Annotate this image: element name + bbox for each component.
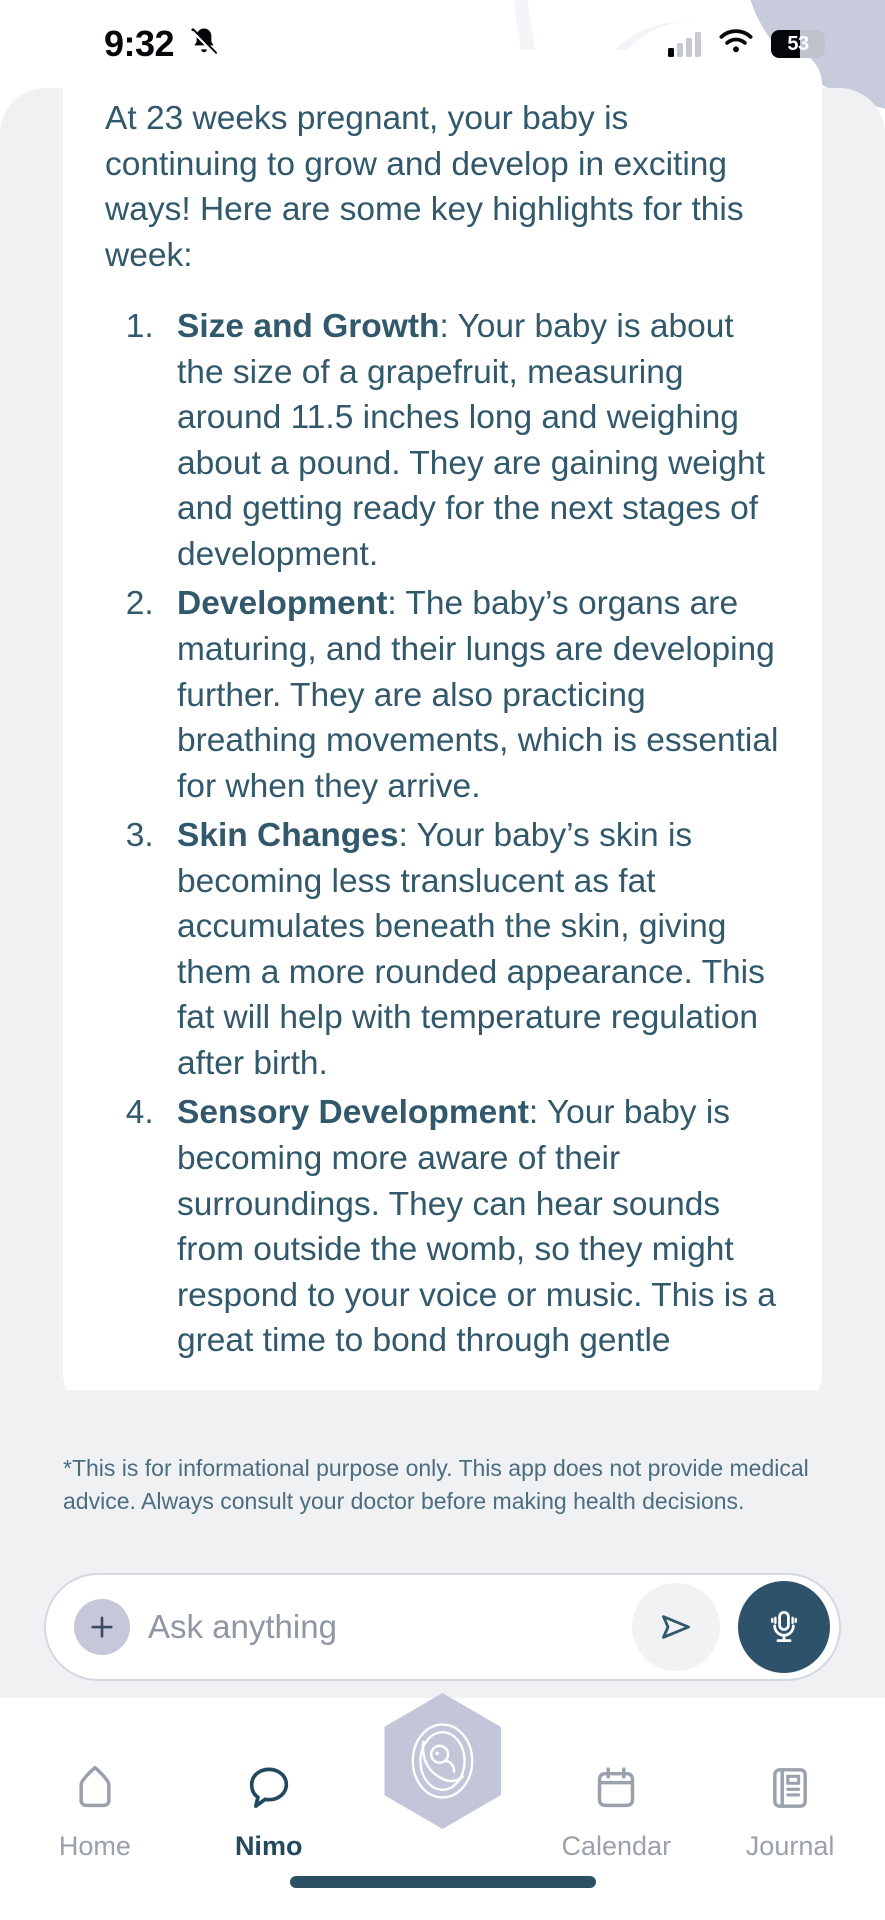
list-item-title: Skin Changes [177,817,399,854]
list-item: Development: The baby’s organs are matur… [163,581,780,809]
journal-icon [764,1762,816,1819]
microphone-icon[interactable] [738,1581,830,1673]
calendar-icon [590,1762,642,1819]
home-icon [69,1762,121,1819]
nav-label: Home [59,1833,131,1860]
nav-item-home[interactable]: Home [8,1762,182,1860]
nav-item-journal[interactable]: Journal [703,1762,877,1860]
nav-label: Journal [746,1833,835,1860]
phone-screen: 9:32 [0,0,885,1920]
chat-bubble-icon [243,1762,295,1819]
message-composer[interactable] [44,1573,841,1681]
list-item-body: : Your baby is becoming more aware of th… [177,1094,776,1359]
plus-icon[interactable] [74,1599,130,1655]
chat-scroll-area[interactable]: At 23 weeks pregnant, your baby is conti… [0,50,885,1390]
battery-indicator: 53 [771,30,825,58]
nav-label: Calendar [562,1833,672,1860]
home-indicator [290,1876,596,1888]
list-item-body: : Your baby’s skin is becoming less tran… [177,817,765,1082]
nav-item-calendar[interactable]: Calendar [529,1762,703,1860]
assistant-message-card: At 23 weeks pregnant, your baby is conti… [63,50,822,1390]
search-input[interactable] [148,1608,614,1646]
send-paper-plane-icon[interactable] [632,1583,720,1671]
wifi-icon [717,28,755,61]
message-intro-text: At 23 weeks pregnant, your baby is conti… [105,96,780,278]
medical-disclaimer: *This is for informational purpose only.… [0,1452,885,1517]
status-bar-left: 9:32 [0,25,221,64]
status-bar: 9:32 [0,0,885,88]
list-item: Sensory Development: Your baby is becomi… [163,1090,780,1363]
list-item: Size and Growth: Your baby is about the … [163,304,780,577]
list-item-title: Development [177,585,387,622]
status-bar-right: 53 [668,28,841,61]
bell-muted-icon [187,25,221,64]
list-item: Skin Changes: Your baby’s skin is becomi… [163,813,780,1086]
list-item-body: : Your baby is about the size of a grape… [177,308,765,573]
cellular-signal-icon [668,31,701,57]
clock: 9:32 [104,26,174,62]
nav-item-nimo[interactable]: Nimo [182,1762,356,1860]
message-highlight-list: Size and Growth: Your baby is about the … [105,304,780,1364]
nav-label: Nimo [235,1833,303,1860]
list-item-title: Size and Growth [177,308,439,345]
list-item-title: Sensory Development [177,1094,529,1131]
battery-percent-label: 53 [771,34,825,54]
